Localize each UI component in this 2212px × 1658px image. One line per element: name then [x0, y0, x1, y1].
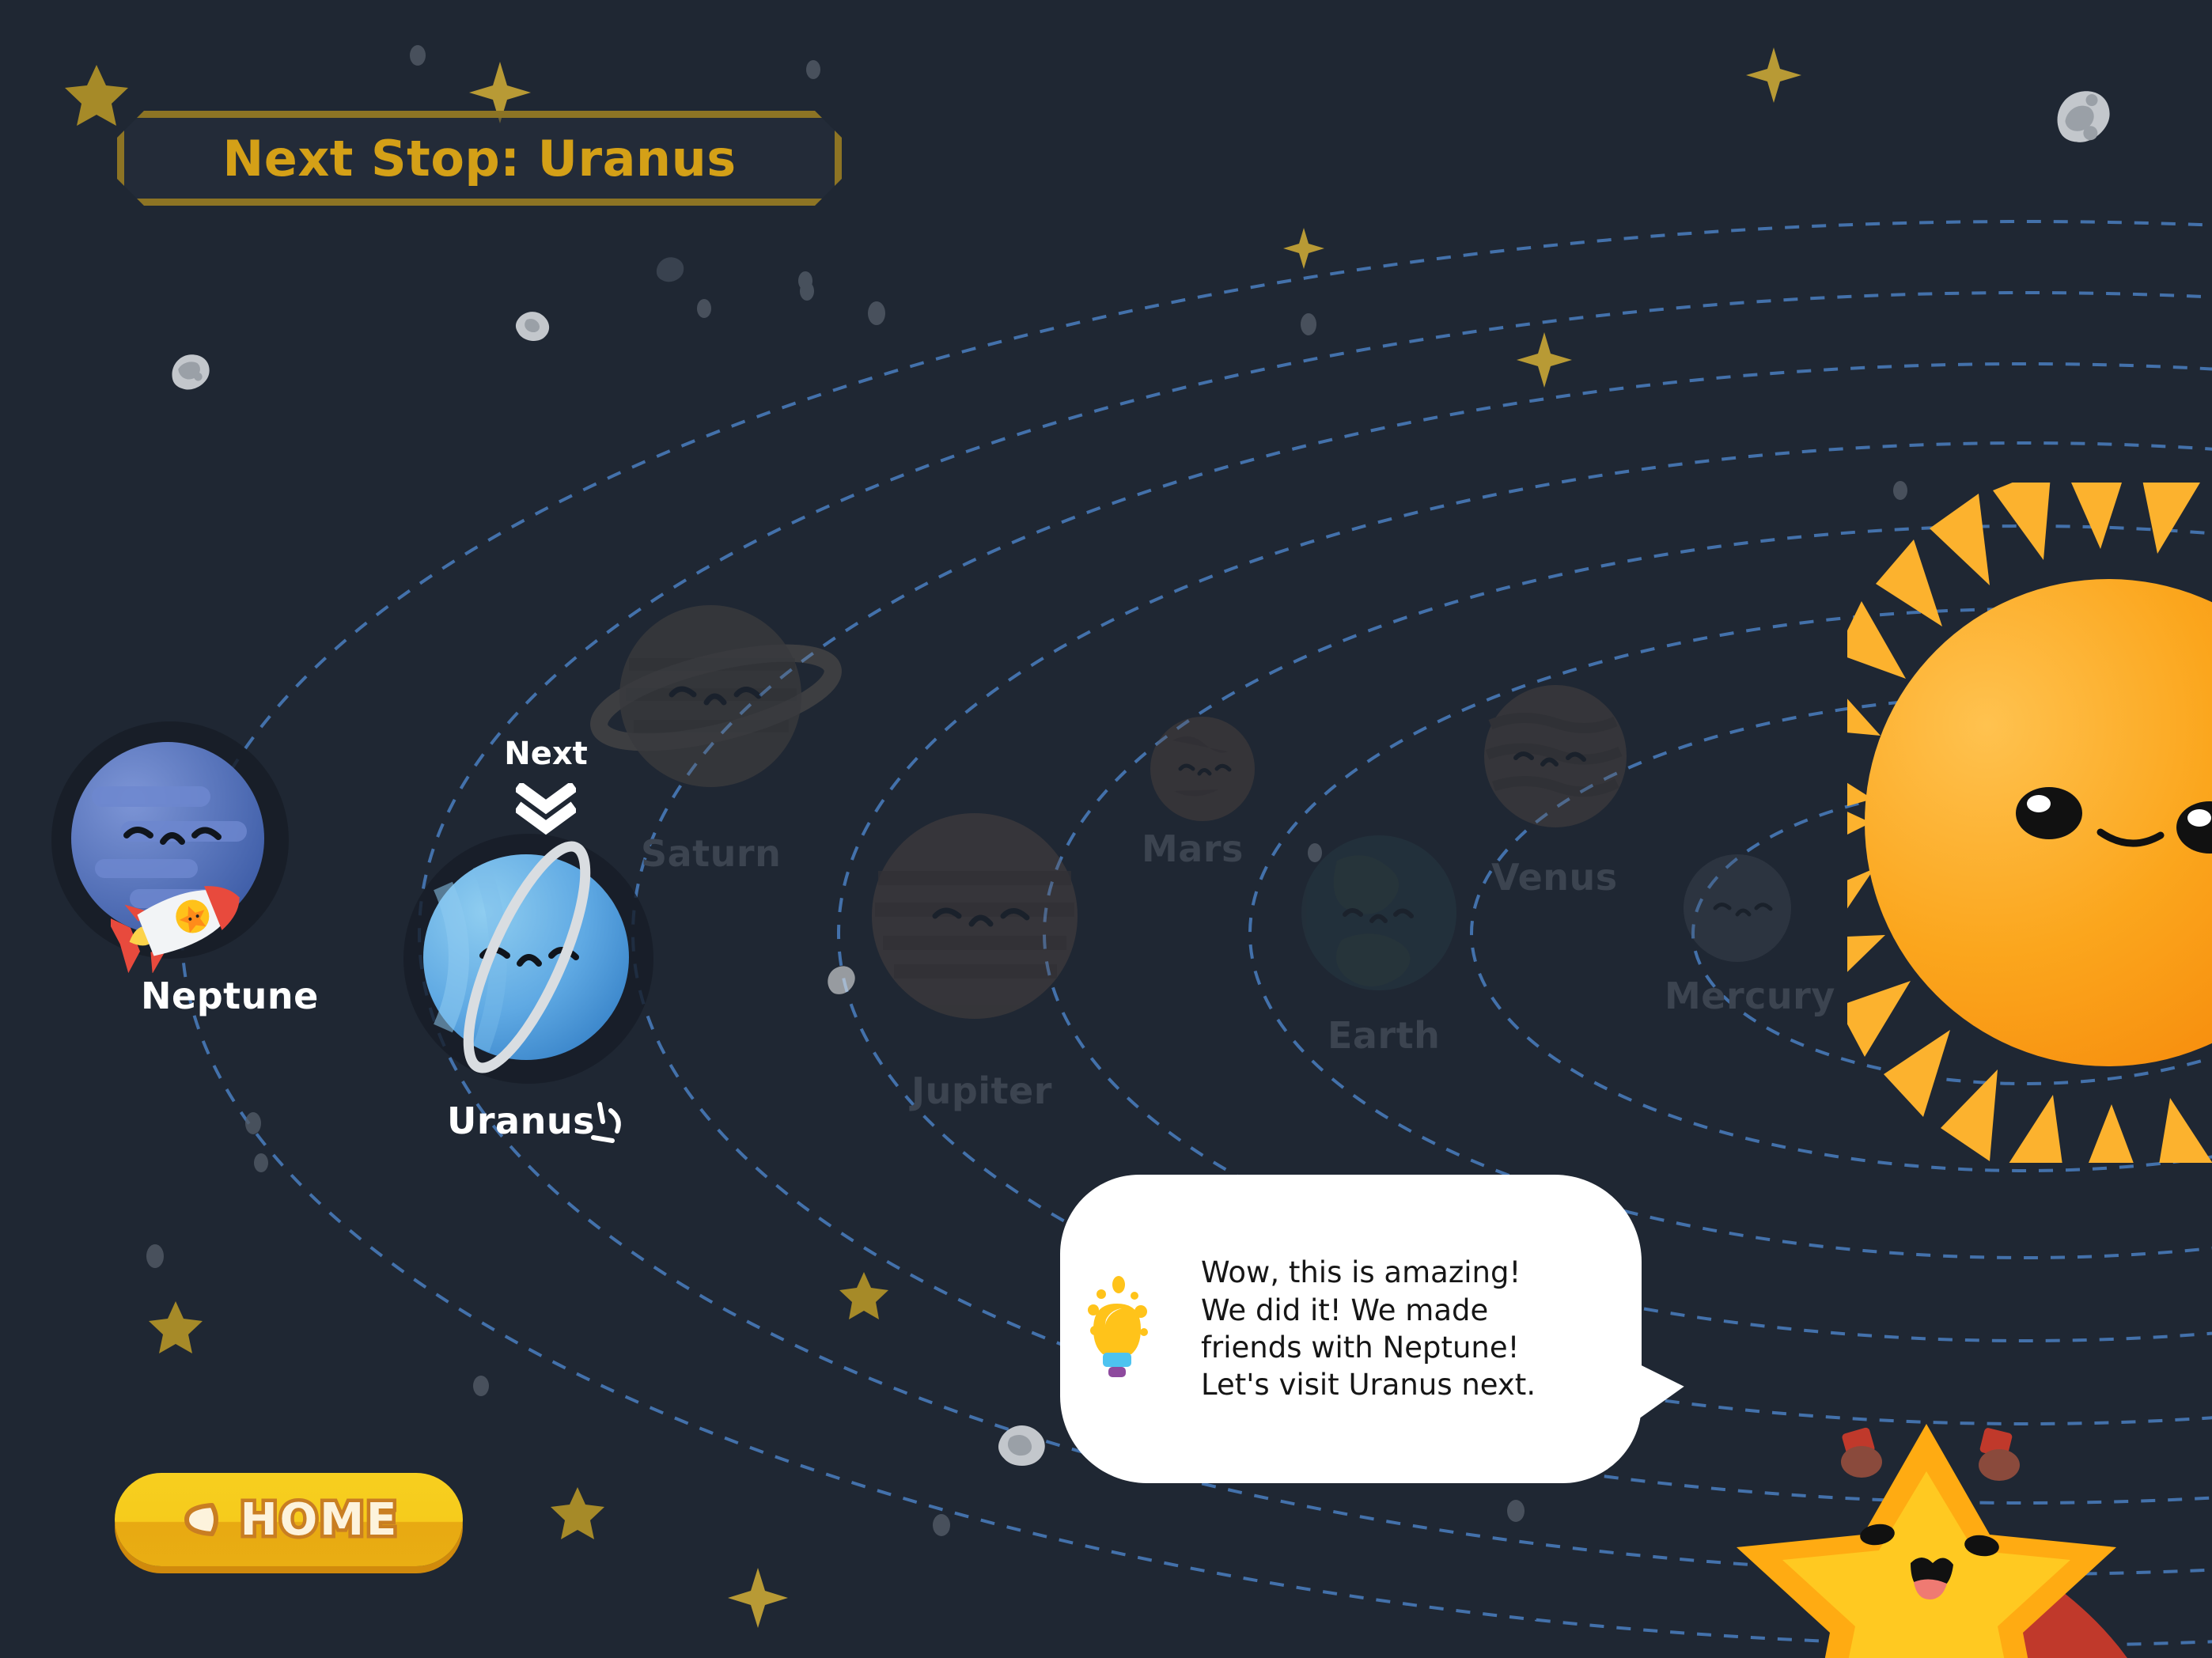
sun	[1847, 483, 2212, 1163]
home-button[interactable]: HOME	[115, 1473, 463, 1566]
planet-mercury[interactable]	[1679, 850, 1801, 972]
lightbulb-icon	[1082, 1266, 1201, 1392]
planet-mars[interactable]	[1146, 712, 1264, 831]
star-mascot	[1665, 1392, 2203, 1658]
next-marker: Next	[475, 736, 617, 838]
planet-venus[interactable]	[1479, 680, 1638, 838]
planet-jupiter[interactable]	[862, 799, 1092, 1028]
planet-label-neptune: Neptune	[141, 975, 319, 1017]
speech-text: Wow, this is amazing! We did it! We made…	[1201, 1254, 1536, 1403]
space-scene: Saturn Jupiter Mars	[0, 0, 2212, 1658]
planet-label-mars: Mars	[1142, 827, 1244, 870]
planet-label-earth: Earth	[1328, 1014, 1440, 1057]
back-arrow-icon	[179, 1497, 223, 1542]
page-title-banner: Next Stop: Uranus	[117, 111, 842, 206]
planet-label-mercury: Mercury	[1665, 975, 1835, 1017]
double-chevron-down-icon	[516, 783, 576, 838]
planet-uranus[interactable]	[396, 831, 672, 1100]
rocket-icon[interactable]	[111, 862, 277, 973]
planet-saturn[interactable]	[589, 577, 843, 815]
speech-bubble: Wow, this is amazing! We did it! We made…	[1060, 1175, 1642, 1483]
planet-label-jupiter: Jupiter	[911, 1069, 1052, 1112]
planet-label-venus: Venus	[1491, 856, 1618, 899]
planet-earth[interactable]	[1296, 829, 1470, 1003]
planet-label-uranus: Uranus	[447, 1100, 595, 1142]
next-label: Next	[475, 736, 617, 772]
page-title: Next Stop: Uranus	[222, 130, 736, 187]
home-button-label: HOME	[241, 1494, 399, 1546]
